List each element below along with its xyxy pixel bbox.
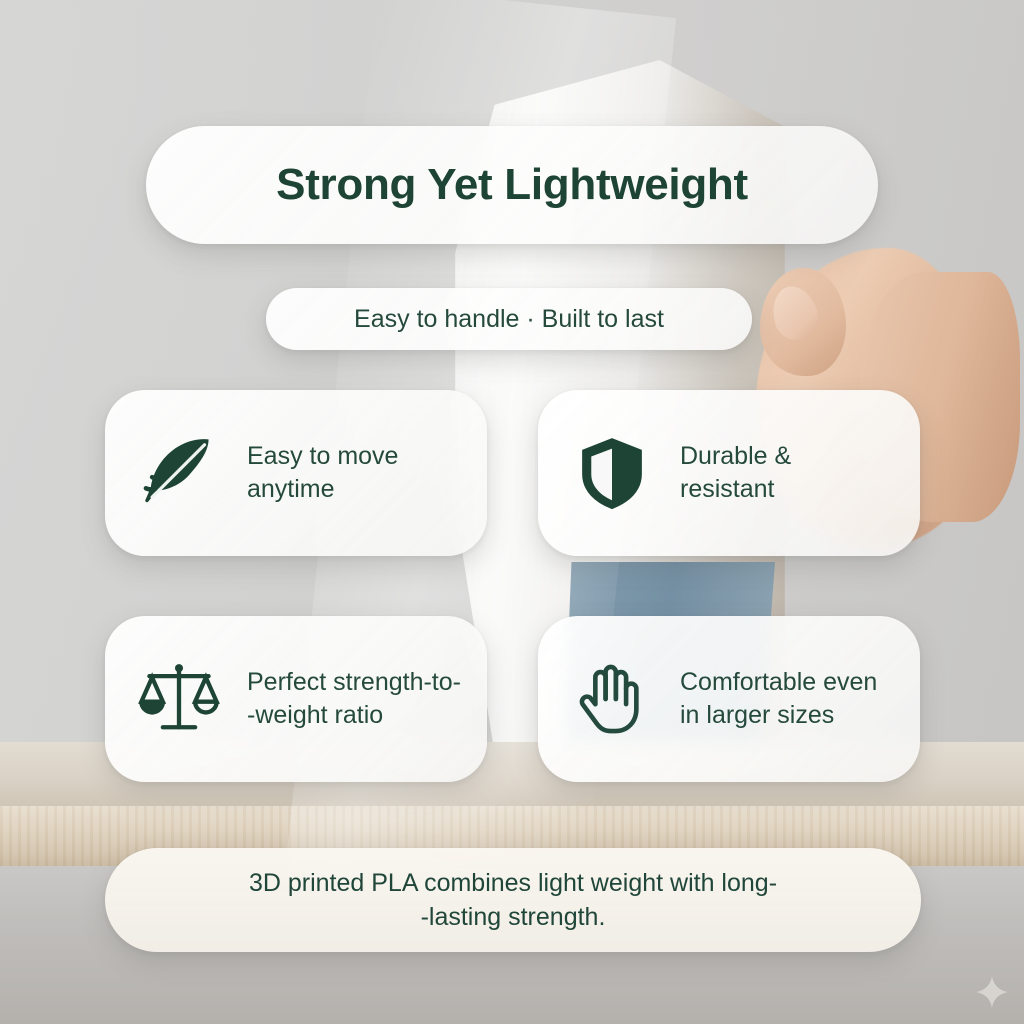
footer-line2: -lasting strength. (249, 900, 777, 935)
feature-label-line2: in larger sizes (680, 699, 877, 732)
feather-icon (131, 425, 227, 521)
feature-label: Easy to move anytime (247, 440, 398, 506)
page-subtitle: Easy to handle · Built to last (354, 305, 664, 334)
feature-label: Durable & resistant (680, 440, 791, 506)
footer-line1: 3D printed PLA combines light weight wit… (249, 866, 777, 901)
feature-card-strength-to-weight: Perfect strength-to- -weight ratio (105, 616, 487, 782)
footer-text: 3D printed PLA combines light weight wit… (203, 866, 823, 935)
feature-label-line2: resistant (680, 473, 791, 506)
balance-scale-icon (131, 651, 227, 747)
feature-label: Comfortable even in larger sizes (680, 666, 877, 732)
feature-label-line1: Perfect strength-to- (247, 666, 461, 699)
page-title: Strong Yet Lightweight (276, 160, 748, 210)
hero-subtitle-pill: Easy to handle · Built to last (266, 288, 752, 350)
feature-label-line1: Durable & (680, 440, 791, 473)
infographic-stage: Strong Yet Lightweight Easy to handle · … (0, 0, 1024, 1024)
open-hand-icon (564, 651, 660, 747)
feature-label-line2: anytime (247, 473, 398, 506)
shield-icon (564, 425, 660, 521)
sparkle-icon (975, 975, 1009, 1009)
feature-label-line1: Easy to move (247, 440, 398, 473)
feature-card-comfortable: Comfortable even in larger sizes (538, 616, 920, 782)
hero-title-pill: Strong Yet Lightweight (146, 126, 878, 244)
feature-card-easy-to-move: Easy to move anytime (105, 390, 487, 556)
feature-card-durable: Durable & resistant (538, 390, 920, 556)
feature-label: Perfect strength-to- -weight ratio (247, 666, 461, 732)
feature-label-line1: Comfortable even (680, 666, 877, 699)
feature-label-line2: -weight ratio (247, 699, 461, 732)
footer-banner: 3D printed PLA combines light weight wit… (105, 848, 921, 952)
